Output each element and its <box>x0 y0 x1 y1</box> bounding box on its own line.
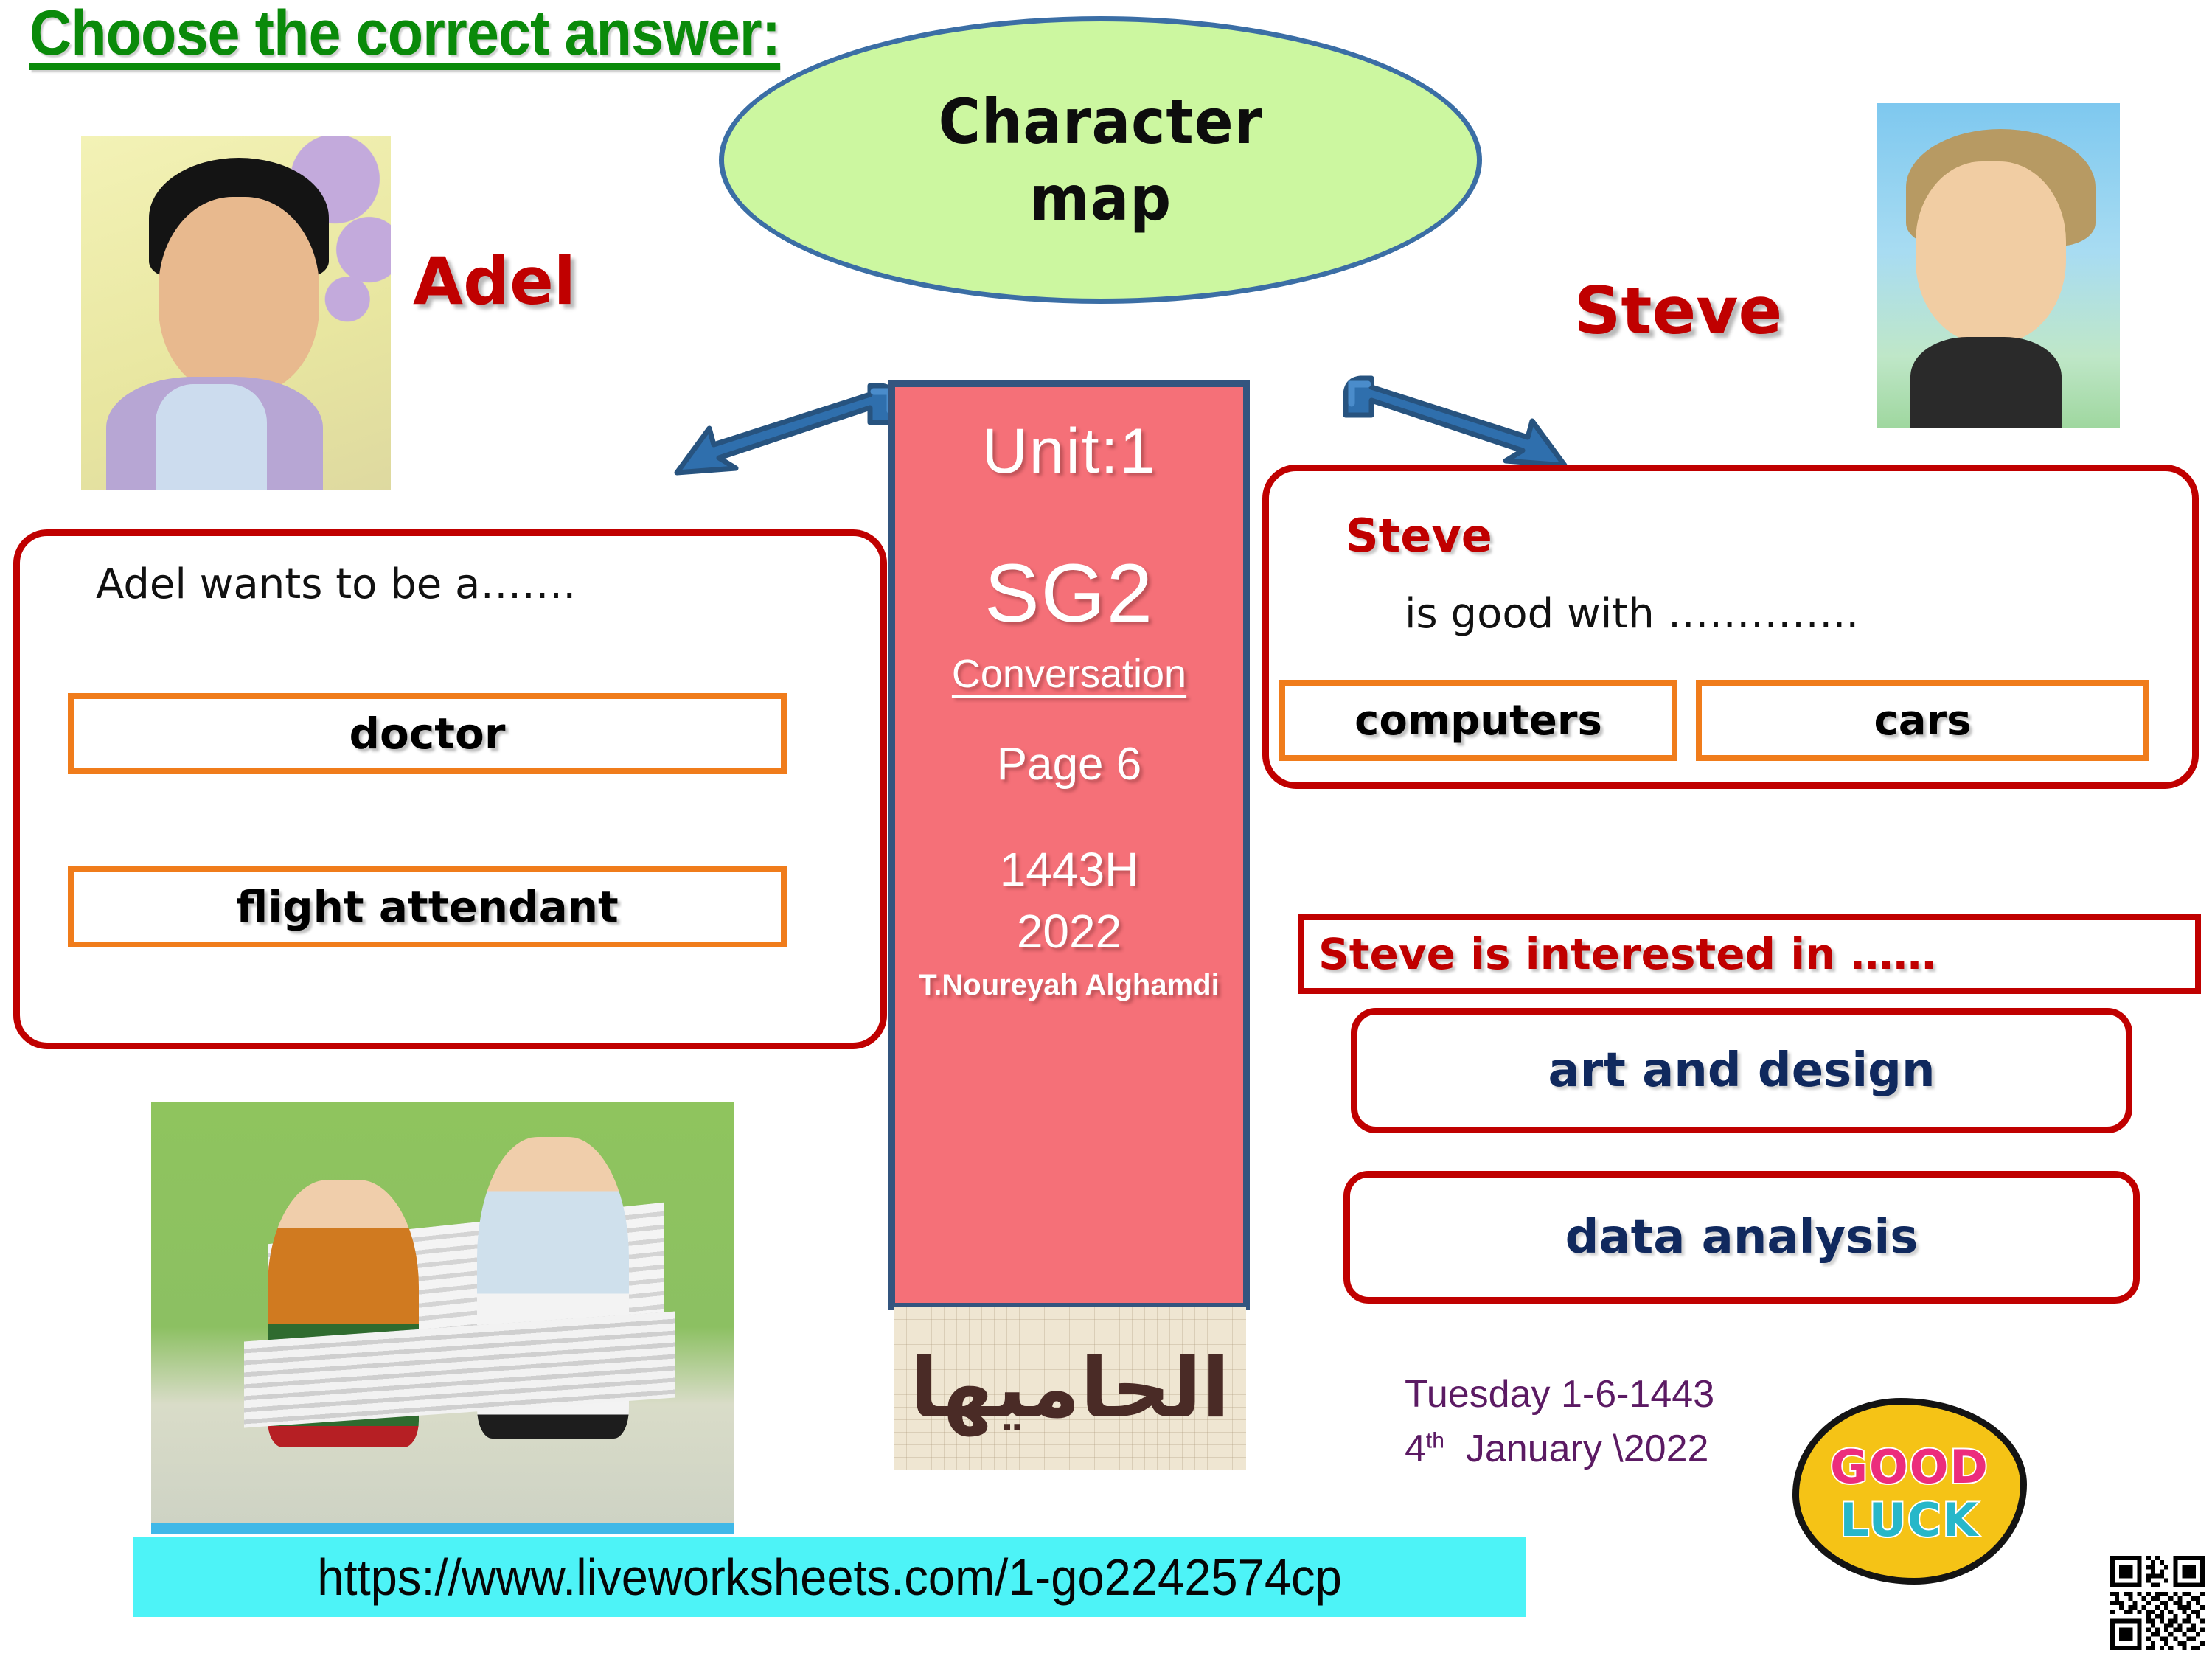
adel-collar-shape <box>156 384 267 490</box>
steve-portrait-image <box>1877 103 2120 428</box>
character-map-line-2: map <box>1029 160 1172 237</box>
date-day-number: 4 <box>1405 1427 1426 1470</box>
worksheet-url-bar[interactable]: https://www.liveworksheets.com/1-go22425… <box>133 1537 1526 1617</box>
worksheet-url-text: https://www.liveworksheets.com/1-go22425… <box>317 1548 1342 1607</box>
lesson-section: Conversation <box>952 651 1186 697</box>
adel-portrait-image <box>81 136 391 490</box>
character-map-ellipse: Character map <box>719 16 1482 304</box>
lesson-hijri-year: 1443H <box>1000 842 1139 897</box>
lesson-code: SG2 <box>984 546 1154 641</box>
steve-interest-prompt: Steve is interested in …… <box>1298 914 2201 994</box>
adel-question-prompt: Adel wants to be a……. <box>96 560 576 608</box>
steve-question-prompt: is good with ………….. <box>1405 590 1859 638</box>
lesson-page: Page 6 <box>997 738 1142 790</box>
character-map-line-1: Character <box>938 83 1262 160</box>
steve-face-shape <box>1916 161 2067 343</box>
qr-code-icon <box>2110 1556 2205 1650</box>
page-title: Choose the correct answer: <box>29 0 780 70</box>
steve-body-shape <box>1910 337 2062 428</box>
arabic-word-image: الحاميها <box>894 1307 1246 1470</box>
bench-scene-image <box>151 1102 734 1534</box>
arabic-word-text: الحاميها <box>910 1340 1230 1436</box>
good-luck-word-1: GOOD <box>1799 1440 2020 1494</box>
option-art-and-design[interactable]: art and design <box>1351 1008 2132 1133</box>
steve-name-label: Steve <box>1574 273 1782 349</box>
good-luck-word-2: LUCK <box>1799 1493 2020 1547</box>
steve-card-name: Steve <box>1346 509 1492 563</box>
bench-bottom-strip <box>151 1523 734 1534</box>
date-hijri: Tuesday 1-6-1443 <box>1405 1368 1714 1422</box>
lesson-year: 2022 <box>1017 904 1121 959</box>
adel-name-label: Adel <box>413 243 576 319</box>
lesson-author: T.Noureyah Alghamdi <box>919 969 1219 1002</box>
option-computers[interactable]: computers <box>1279 680 1677 761</box>
option-doctor[interactable]: doctor <box>68 693 787 774</box>
option-flight-attendant[interactable]: flight attendant <box>68 866 787 947</box>
option-data-analysis[interactable]: data analysis <box>1343 1171 2140 1304</box>
lesson-info-card: Unit:1 SG2 Conversation Page 6 1443H 202… <box>888 380 1250 1310</box>
date-block: Tuesday 1-6-1443 4th January \2022 <box>1405 1368 1714 1477</box>
option-cars[interactable]: cars <box>1696 680 2149 761</box>
date-gregorian: January \2022 <box>1466 1427 1709 1470</box>
good-luck-badge: GOOD LUCK <box>1799 1405 2020 1578</box>
lesson-unit: Unit:1 <box>982 415 1157 488</box>
adel-face-shape <box>159 197 319 395</box>
date-ordinal-suffix: th <box>1426 1429 1444 1453</box>
date-gregorian-line: 4th January \2022 <box>1405 1422 1714 1477</box>
